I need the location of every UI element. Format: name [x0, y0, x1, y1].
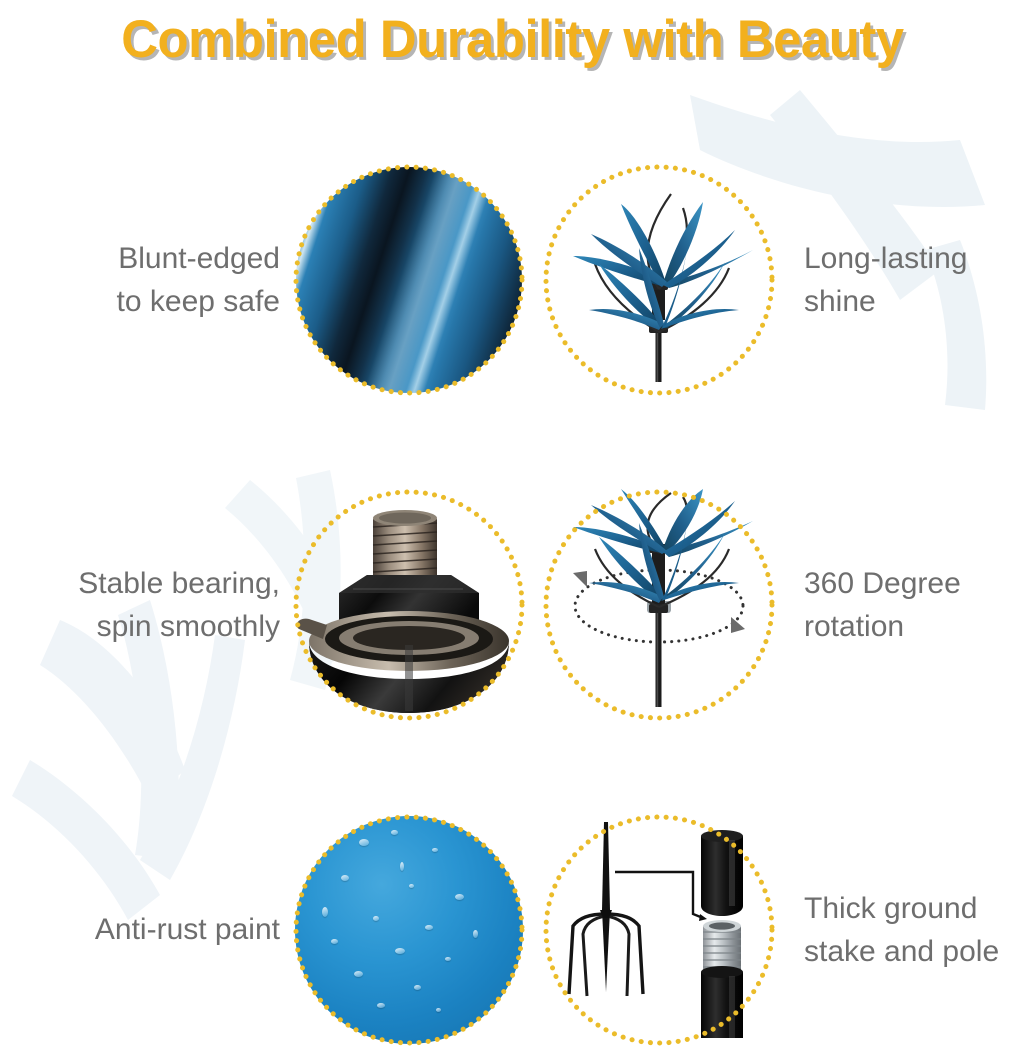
media-blue-blade-closeup: [293, 164, 525, 396]
dotted-ring: [543, 814, 775, 1046]
feature-label-line1: Anti-rust paint: [0, 908, 280, 952]
feature-label-line1: Long-lasting: [804, 237, 1024, 281]
feature-label-line2: to keep safe: [0, 280, 280, 324]
page-title: Combined Durability with Beauty: [121, 9, 903, 70]
feature-label-line1: Thick ground: [804, 887, 1024, 931]
feature-label-line2: stake and pole: [804, 930, 1024, 974]
feature-label-blunt-edge: Blunt-edged to keep safe: [0, 237, 284, 324]
dotted-ring: [293, 814, 525, 1046]
feature-label-360-rotation: 360 Degree rotation: [784, 562, 1024, 649]
feature-label-line2: rotation: [804, 605, 1024, 649]
feature-row-blunt-edge: Blunt-edged to keep safe: [0, 155, 1024, 405]
media-wind-spinner: [543, 164, 775, 396]
feature-row-bearing: Stable bearing, spin smoothly: [0, 480, 1024, 730]
media-bearing-bolt-closeup: [293, 489, 525, 721]
feature-label-stable-bearing: Stable bearing, spin smoothly: [0, 562, 284, 649]
feature-label-long-lasting-shine: Long-lasting shine: [784, 237, 1024, 324]
feature-row-anti-rust: Anti-rust paint: [0, 805, 1024, 1055]
feature-label-line2: spin smoothly: [0, 605, 280, 649]
media-ground-stake-and-pole: [543, 814, 775, 1046]
feature-label-line2: shine: [804, 280, 1024, 324]
dotted-ring: [543, 164, 775, 396]
dotted-ring: [543, 489, 775, 721]
media-wind-spinner-rotation: [543, 489, 775, 721]
feature-label-line1: 360 Degree: [804, 562, 1024, 606]
feature-label-line1: Blunt-edged: [0, 237, 280, 281]
feature-label-line1: Stable bearing,: [0, 562, 280, 606]
dotted-ring: [293, 489, 525, 721]
dotted-ring: [293, 164, 525, 396]
title-bar: Combined Durability with Beauty: [0, 0, 1024, 78]
feature-label-thick-stake-pole: Thick ground stake and pole: [784, 887, 1024, 974]
feature-label-anti-rust-paint: Anti-rust paint: [0, 908, 284, 952]
media-blue-paint-droplets: [293, 814, 525, 1046]
